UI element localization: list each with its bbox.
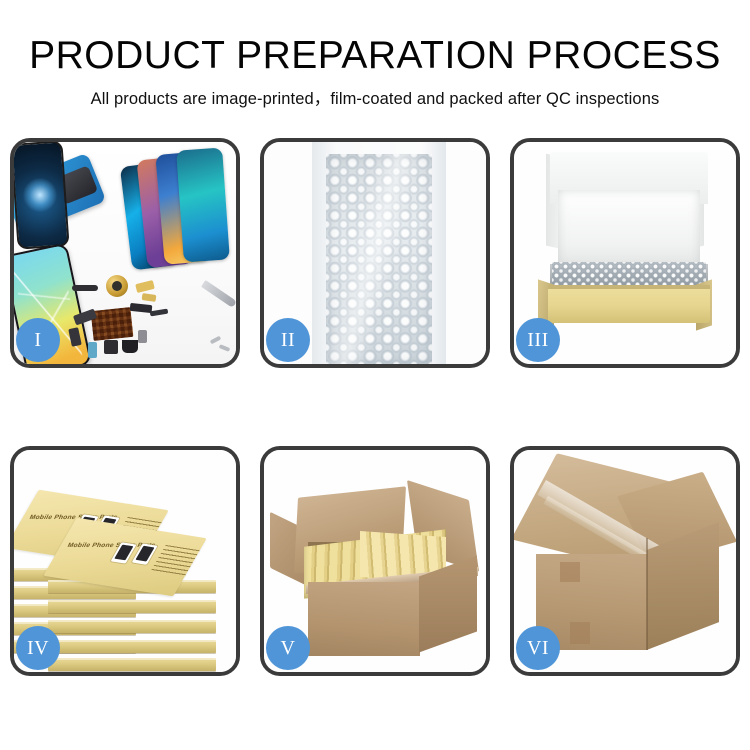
step-panel-1: I	[10, 138, 240, 368]
screws	[210, 338, 234, 352]
part-sim-tray	[138, 330, 147, 343]
page-subtitle: All products are image-printed，film-coat…	[0, 85, 750, 109]
part-connector	[72, 285, 98, 291]
tempered-glass-protector	[14, 142, 70, 250]
product-preparation-infographic: PRODUCT PREPARATION PROCESS All products…	[0, 0, 750, 750]
carton-seal-mark	[570, 622, 590, 644]
carton-front-panel	[308, 582, 420, 656]
page-title: PRODUCT PREPARATION PROCESS	[0, 34, 750, 78]
plastic-sheen	[326, 154, 432, 364]
part-buzzer	[122, 340, 138, 353]
step-badge-3: III	[516, 318, 560, 362]
stacked-box-edge	[48, 620, 216, 633]
box-front-panel	[548, 285, 710, 323]
step-panel-4: Mobile Phone Spare Parts Mobile Phone Sp…	[10, 446, 240, 676]
step-badge-6: VI	[516, 626, 560, 670]
stacked-box-edge	[48, 658, 216, 671]
stacked-box-edge	[48, 640, 216, 653]
step-badge-5: V	[266, 626, 310, 670]
step-panel-6: VI	[510, 446, 740, 676]
step-panel-5: V	[260, 446, 490, 676]
chip-grid	[91, 307, 134, 341]
carton-seal-mark	[560, 562, 580, 582]
step-panel-2: II	[260, 138, 490, 368]
step-badge-1: I	[16, 318, 60, 362]
camera-ring-icon	[106, 275, 128, 297]
step-panel-3: III	[510, 138, 740, 368]
stacked-box-edge	[48, 600, 216, 613]
header: PRODUCT PREPARATION PROCESS All products…	[0, 34, 750, 109]
carton-corner-edge	[646, 538, 648, 650]
phone-screen-teal	[176, 148, 230, 263]
step-badge-2: II	[266, 318, 310, 362]
part-sensor	[88, 342, 97, 358]
foam-sheet	[558, 190, 700, 268]
step-badge-4: IV	[16, 626, 60, 670]
steps-grid: I II	[10, 138, 740, 676]
part-speaker	[104, 340, 118, 354]
